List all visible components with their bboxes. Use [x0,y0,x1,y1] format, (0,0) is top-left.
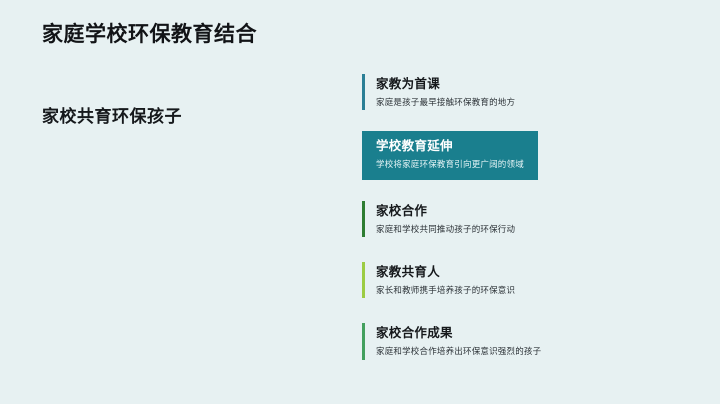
list-item-title: 家校合作 [376,203,662,220]
list-item-description: 家庭和学校合作培养出环保意识强烈的孩子 [376,346,662,357]
page-subtitle: 家校共育环保孩子 [42,106,182,127]
list-item[interactable]: 家教共育人 家长和教师携手培养孩子的环保意识 [362,258,662,302]
list-item-title: 家教共育人 [376,264,662,281]
topic-list: 家教为首课 家庭是孩子最早接触环保教育的地方 学校教育延伸 学校将家庭环保教育引… [362,70,662,364]
accent-bar-icon [362,262,365,298]
list-item[interactable]: 家校合作 家庭和学校共同推动孩子的环保行动 [362,197,662,241]
list-item[interactable]: 学校教育延伸 学校将家庭环保教育引向更广阔的领域 [362,131,538,179]
slide-canvas: 家庭学校环保教育结合 家校共育环保孩子 家教为首课 家庭是孩子最早接触环保教育的… [0,0,720,404]
list-item-description: 家庭和学校共同推动孩子的环保行动 [376,224,662,235]
list-item-title: 家校合作成果 [376,325,662,342]
page-title: 家庭学校环保教育结合 [42,22,332,48]
list-item-description: 家长和教师携手培养孩子的环保意识 [376,285,662,296]
list-item-title: 学校教育延伸 [376,138,528,155]
accent-bar-icon [362,201,365,237]
accent-bar-icon [362,74,365,110]
list-item-description: 家庭是孩子最早接触环保教育的地方 [376,97,662,108]
list-item-description: 学校将家庭环保教育引向更广阔的领域 [376,159,528,170]
slide-heading-block: 家庭学校环保教育结合 家校共育环保孩子 [42,22,332,48]
accent-bar-icon [362,323,365,359]
list-item[interactable]: 家教为首课 家庭是孩子最早接触环保教育的地方 [362,70,662,114]
list-item-title: 家教为首课 [376,76,662,93]
list-item[interactable]: 家校合作成果 家庭和学校合作培养出环保意识强烈的孩子 [362,319,662,363]
